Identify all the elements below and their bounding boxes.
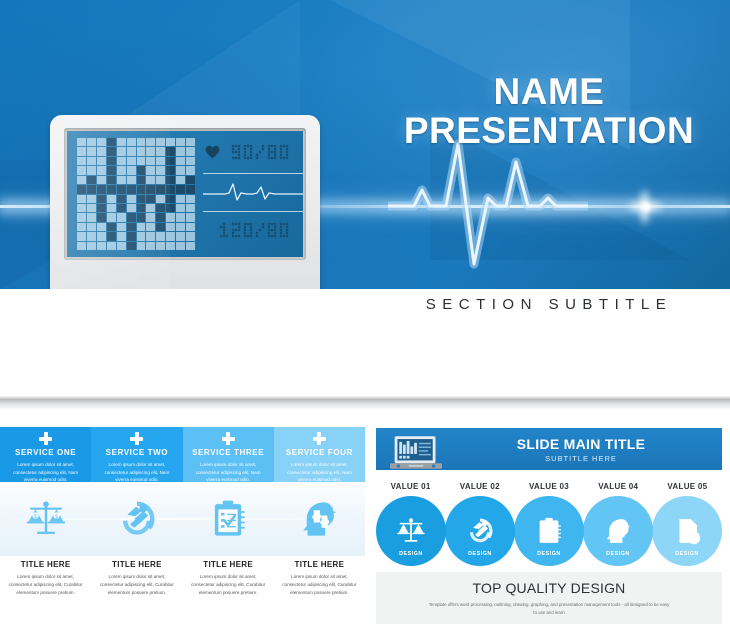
pixel-cell	[77, 204, 86, 212]
value-label-4: VALUE 04	[584, 482, 653, 491]
pixel-cell	[87, 147, 96, 155]
pixel-cell	[107, 138, 116, 146]
scales-balance-icon: $$	[25, 498, 67, 540]
pixel-cell	[137, 242, 146, 250]
head-puzzle-icon	[603, 516, 633, 546]
pixel-cell	[117, 213, 126, 221]
pixel-cell	[107, 157, 116, 165]
pixel-cell	[146, 138, 155, 146]
service-card-desc: Lorem ipsum dolor sit amet, consectetur …	[0, 461, 91, 484]
pixel-cell	[117, 147, 126, 155]
pixel-cell	[176, 232, 185, 240]
pixel-cell	[186, 176, 195, 184]
value-circle-3[interactable]: DESIGN	[514, 496, 584, 566]
vitals-ecg-trace	[203, 181, 303, 203]
pixel-cell	[186, 147, 195, 155]
pixel-cell	[117, 176, 126, 184]
handshake-icon	[116, 498, 158, 540]
pixel-cell	[156, 157, 165, 165]
pixel-cell	[186, 232, 195, 240]
clipboard-checklist-icon	[534, 516, 564, 546]
service-card-title: SERVICE TWO	[91, 448, 182, 457]
card-title: TITLE HERE	[6, 560, 85, 569]
pixel-cell	[186, 185, 195, 193]
slide-footer: TOP QUALITY DESIGN Template offers word …	[376, 572, 722, 624]
pixel-cell	[186, 242, 195, 250]
pixel-cell	[166, 176, 175, 184]
pixel-cell	[107, 176, 116, 184]
pixel-cell	[176, 213, 185, 221]
value-design-label: DESIGN	[675, 551, 699, 557]
pixel-cell	[137, 223, 146, 231]
pixel-cell	[156, 242, 165, 250]
pixel-cell	[107, 185, 116, 193]
pixel-cell	[97, 223, 106, 231]
pixel-cell	[77, 213, 86, 221]
pixel-cell	[146, 223, 155, 231]
handshake-icon	[465, 516, 495, 546]
pixel-cell	[186, 138, 195, 146]
value-design-label: DESIGN	[606, 551, 630, 557]
pixel-cell	[127, 223, 136, 231]
service-card-3[interactable]: SERVICE THREELorem ipsum dolor sit amet,…	[183, 427, 274, 482]
service-card-title: SERVICE FOUR	[274, 448, 365, 457]
pixel-cell	[127, 204, 136, 212]
pixel-cell	[146, 166, 155, 174]
vitals-value-top	[231, 143, 297, 160]
pixel-cell	[127, 166, 136, 174]
pixel-cell	[77, 138, 86, 146]
pixel-cell	[127, 185, 136, 193]
pixel-cell	[186, 213, 195, 221]
pixel-cell	[77, 223, 86, 231]
pixel-cell	[176, 157, 185, 165]
patient-monitor-device	[50, 115, 332, 289]
pixel-cell	[127, 157, 136, 165]
vitals-divider-top	[203, 173, 303, 174]
pixel-cell	[186, 204, 195, 212]
pixel-cell	[166, 223, 175, 231]
pixel-cell	[87, 213, 96, 221]
clipboard-checklist-icon	[207, 498, 249, 540]
svg-text:$: $	[55, 514, 58, 520]
pixel-cell	[117, 242, 126, 250]
pixel-cell	[146, 147, 155, 155]
plus-icon	[39, 432, 52, 445]
value-label-5: VALUE 05	[653, 482, 722, 491]
section-divider	[0, 388, 730, 410]
card-title: TITLE HERE	[280, 560, 359, 569]
pixel-cell	[166, 213, 175, 221]
pixel-cell	[87, 176, 96, 184]
laptop-icon	[390, 434, 442, 472]
pixel-cell	[166, 185, 175, 193]
pixel-cell	[137, 232, 146, 240]
hero-title-line1: NAME	[368, 72, 730, 111]
pixel-cell	[77, 232, 86, 240]
pixel-cell	[97, 204, 106, 212]
pixel-cell	[87, 223, 96, 231]
pixel-cell	[137, 176, 146, 184]
card-desc: Lorem ipsum dolor sit amet, consectetur …	[189, 573, 268, 596]
pixel-cell	[117, 138, 126, 146]
pixel-cell	[127, 147, 136, 155]
pixel-cell	[127, 232, 136, 240]
service-card-1[interactable]: SERVICE ONELorem ipsum dolor sit amet, c…	[0, 427, 91, 482]
pixel-cell	[87, 232, 96, 240]
slide-subtitle: SUBTITLE HERE	[456, 454, 706, 463]
pixel-cell	[107, 204, 116, 212]
slide-thumbnail-values[interactable]: SLIDE MAIN TITLE SUBTITLE HERE VALUE 01V…	[368, 420, 730, 630]
pixel-cell	[156, 185, 165, 193]
service-card-2[interactable]: SERVICE TWOLorem ipsum dolor sit amet, c…	[91, 427, 182, 482]
pixel-cell	[87, 204, 96, 212]
pixel-cell	[156, 223, 165, 231]
pixel-cell	[146, 157, 155, 165]
monitor-screen-bezel	[64, 128, 306, 260]
pixel-cell	[137, 185, 146, 193]
card-desc: Lorem ipsum dolor sit amet, consectetur …	[97, 573, 176, 596]
service-card-desc: Lorem ipsum dolor sit amet, consectetur …	[91, 461, 182, 484]
pixel-cell	[176, 166, 185, 174]
pixel-cell	[166, 232, 175, 240]
pixel-cell	[156, 204, 165, 212]
pixel-cell	[156, 166, 165, 174]
pixel-cell	[77, 242, 86, 250]
service-titles-row: TITLE HERELorem ipsum dolor sit amet, co…	[0, 560, 365, 596]
service-card-title: SERVICE THREE	[183, 448, 274, 457]
value-circle-4[interactable]: DESIGN	[583, 496, 653, 566]
monitor-vitals-panel	[203, 139, 303, 253]
pixel-cell	[97, 232, 106, 240]
pixel-cell	[146, 176, 155, 184]
pixel-cell	[117, 232, 126, 240]
pixel-cell	[97, 147, 106, 155]
service-icon-cell-2	[91, 482, 182, 556]
pixel-cell	[107, 213, 116, 221]
service-title-cell-4: TITLE HERELorem ipsum dolor sit amet, co…	[274, 560, 365, 596]
card-title: TITLE HERE	[189, 560, 268, 569]
pixel-cell	[107, 242, 116, 250]
value-design-label: DESIGN	[468, 551, 492, 557]
pixel-cell	[77, 195, 86, 203]
pixel-cell	[176, 138, 185, 146]
pixel-cell	[166, 204, 175, 212]
pixel-cell	[97, 242, 106, 250]
pixel-cell	[166, 166, 175, 174]
plus-icon	[222, 432, 235, 445]
value-circle-2[interactable]: DESIGN	[445, 496, 515, 566]
card-title: TITLE HERE	[97, 560, 176, 569]
pixel-cell	[97, 195, 106, 203]
pixel-cell	[156, 147, 165, 155]
pixel-cell	[87, 242, 96, 250]
pixel-cell	[146, 232, 155, 240]
value-label-1: VALUE 01	[376, 482, 445, 491]
pixel-cell	[146, 204, 155, 212]
plus-icon	[130, 432, 143, 445]
service-icons-row: $$	[0, 482, 365, 556]
heart-icon	[205, 145, 220, 159]
slide-preview-page: NAME PRESENTATION	[0, 0, 730, 630]
pixel-cell	[97, 166, 106, 174]
pixel-cell	[127, 138, 136, 146]
pixel-cell	[186, 157, 195, 165]
footer-title: TOP QUALITY DESIGN	[376, 580, 722, 596]
value-design-label: DESIGN	[399, 551, 423, 557]
footer-text: Template offers word processing, outlini…	[376, 601, 722, 617]
head-puzzle-icon	[298, 498, 340, 540]
pixel-cell	[166, 195, 175, 203]
card-desc: Lorem ipsum dolor sit amet, consectetur …	[6, 573, 85, 596]
pixel-cell	[77, 166, 86, 174]
slide-main-title: SLIDE MAIN TITLE	[456, 436, 706, 452]
pixel-cell	[117, 157, 126, 165]
value-label-3: VALUE 03	[514, 482, 583, 491]
pixel-cell	[137, 147, 146, 155]
pixel-cell	[146, 213, 155, 221]
pixel-cell	[117, 195, 126, 203]
service-cards-row: SERVICE ONELorem ipsum dolor sit amet, c…	[0, 427, 365, 482]
service-title-cell-1: TITLE HERELorem ipsum dolor sit amet, co…	[0, 560, 91, 596]
pixel-cell	[107, 166, 116, 174]
ecg-pulse-graphic	[388, 138, 588, 273]
pixel-cell	[127, 195, 136, 203]
vitals-value-bottom	[219, 221, 299, 238]
hero-title-line2: PRESENTATION	[368, 111, 730, 150]
pixel-cell	[176, 223, 185, 231]
pixel-cell	[97, 157, 106, 165]
pixel-cell	[97, 176, 106, 184]
pixel-cell	[176, 185, 185, 193]
pixel-cell	[117, 223, 126, 231]
pixel-cell	[146, 185, 155, 193]
bg-facet-3	[120, 0, 300, 120]
pixel-cell	[77, 157, 86, 165]
pixel-cell	[166, 147, 175, 155]
pixel-cell	[77, 176, 86, 184]
pixel-cell	[156, 232, 165, 240]
pixel-cell	[87, 157, 96, 165]
pixel-cell	[186, 223, 195, 231]
hero-title: NAME PRESENTATION	[368, 72, 730, 150]
pixel-cell	[87, 166, 96, 174]
value-labels-row: VALUE 01VALUE 02VALUE 03VALUE 04VALUE 05	[376, 482, 722, 491]
pixel-cell	[107, 147, 116, 155]
svg-text:$: $	[34, 514, 37, 520]
monitor-screen	[67, 131, 303, 257]
pixel-cell	[127, 176, 136, 184]
slide-header-bar: SLIDE MAIN TITLE SUBTITLE HERE	[376, 428, 722, 470]
lens-flare-core	[640, 201, 652, 213]
pixel-cell	[87, 185, 96, 193]
pixel-cell	[97, 138, 106, 146]
pixel-cell	[117, 166, 126, 174]
service-card-desc: Lorem ipsum dolor sit amet, consectetur …	[274, 461, 365, 484]
pixel-cell	[107, 223, 116, 231]
pixel-cell	[156, 138, 165, 146]
pixel-cell	[156, 176, 165, 184]
plus-icon	[313, 432, 326, 445]
pixel-cell	[117, 204, 126, 212]
service-title-cell-2: TITLE HERELorem ipsum dolor sit amet, co…	[91, 560, 182, 596]
pixel-cell	[77, 147, 86, 155]
service-icon-cell-1: $$	[0, 482, 91, 556]
pixel-cell	[156, 195, 165, 203]
value-label-2: VALUE 02	[445, 482, 514, 491]
pixel-cell	[107, 195, 116, 203]
pixel-cell	[156, 213, 165, 221]
pixel-cell	[176, 195, 185, 203]
pixel-cell	[87, 195, 96, 203]
hero-subtitle: SECTION SUBTITLE	[368, 296, 730, 313]
pixel-cell	[137, 138, 146, 146]
pixel-cell	[127, 213, 136, 221]
pixel-cell	[146, 242, 155, 250]
pixel-cell	[137, 204, 146, 212]
service-card-desc: Lorem ipsum dolor sit amet, consectetur …	[183, 461, 274, 484]
pixel-cell	[87, 138, 96, 146]
hero-title-slide: NAME PRESENTATION	[0, 0, 730, 289]
pixel-cell	[137, 195, 146, 203]
pixel-cell	[176, 147, 185, 155]
pixel-cell	[176, 242, 185, 250]
service-icon-cell-3	[183, 482, 274, 556]
value-circles-row: $$DESIGNDESIGNDESIGNDESIGNDESIGN	[376, 496, 722, 566]
pixel-cell	[137, 157, 146, 165]
value-circle-5[interactable]: DESIGN	[652, 496, 722, 566]
pixel-cell	[107, 232, 116, 240]
pixel-cell	[97, 185, 106, 193]
pixel-cell	[176, 204, 185, 212]
pixel-cell	[176, 176, 185, 184]
vitals-divider-bottom	[203, 211, 303, 212]
scales-balance-icon: $$	[396, 516, 426, 546]
service-icon-cell-4	[274, 482, 365, 556]
pixel-cell	[97, 213, 106, 221]
pixel-cell	[186, 166, 195, 174]
service-card-4[interactable]: SERVICE FOURLorem ipsum dolor sit amet, …	[274, 427, 365, 482]
value-design-label: DESIGN	[537, 551, 561, 557]
value-circle-1[interactable]: $$DESIGN	[376, 496, 446, 566]
pixel-cell	[77, 185, 86, 193]
pixel-cell	[117, 185, 126, 193]
pixel-cell	[166, 242, 175, 250]
pixel-cell	[137, 213, 146, 221]
pixel-cell	[137, 166, 146, 174]
monitor-body	[50, 115, 320, 289]
service-title-cell-3: TITLE HERELorem ipsum dolor sit amet, co…	[183, 560, 274, 596]
slide-thumbnail-services[interactable]: SERVICE ONELorem ipsum dolor sit amet, c…	[0, 420, 365, 630]
document-check-icon	[672, 516, 702, 546]
pixel-cell	[186, 195, 195, 203]
pixel-cell	[166, 138, 175, 146]
pixel-cell	[146, 195, 155, 203]
pixel-cell	[127, 242, 136, 250]
service-card-title: SERVICE ONE	[0, 448, 91, 457]
pixel-cell	[166, 157, 175, 165]
monitor-pixel-grid	[77, 138, 195, 250]
card-desc: Lorem ipsum dolor sit amet, consectetur …	[280, 573, 359, 596]
